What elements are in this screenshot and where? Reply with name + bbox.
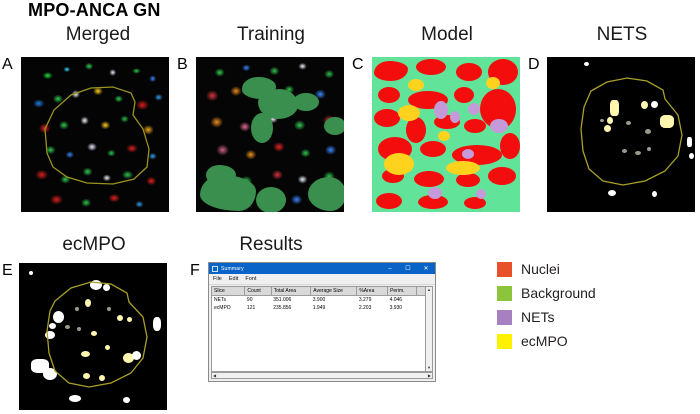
- legend-label-nuclei: Nuclei: [521, 261, 560, 277]
- training-annotation-region: [251, 113, 273, 143]
- window-icon: [212, 266, 218, 272]
- training-annotation-region: [308, 177, 344, 211]
- cell-count: 121: [245, 304, 271, 312]
- roi-outline-nets: [547, 57, 695, 212]
- column-header-total-area[interactable]: Total Area: [271, 287, 311, 296]
- legend-item-background: Background: [497, 285, 596, 301]
- results-table: Slice Count Total Area Average Size %Are…: [212, 287, 432, 312]
- training-annotation-region: [324, 117, 344, 135]
- panel-image-merged: [21, 57, 169, 212]
- legend-label-ecmpo: ecMPO: [521, 333, 568, 349]
- legend-swatch-ecmpo: [497, 334, 512, 349]
- vertical-scrollbar[interactable]: ▲ ▼: [425, 286, 433, 372]
- cell-slice: ecMPO: [212, 304, 245, 312]
- minimize-button[interactable]: –: [381, 263, 399, 274]
- panel-heading-model: Model: [377, 24, 517, 46]
- cell-average-size: 1.949: [311, 304, 357, 312]
- legend-label-nets: NETs: [521, 309, 554, 325]
- model-class-nuclei: [464, 119, 486, 133]
- model-class-ecmpo: [408, 79, 424, 91]
- model-class-nuclei: [488, 167, 516, 185]
- legend-swatch-nets: [497, 310, 512, 325]
- cell-average-size: 3.900: [311, 296, 357, 305]
- panel-letter-a: A: [2, 57, 13, 73]
- panel-heading-nets: NETS: [552, 24, 692, 46]
- panel-image-training: [196, 57, 344, 212]
- roi-outline-ecmpo: [19, 263, 167, 410]
- cell-percent-area: 3.279: [357, 296, 388, 305]
- model-class-ecmpo: [446, 161, 480, 175]
- cell-total-area: 235.856: [271, 304, 311, 312]
- model-class-nuclei: [456, 173, 480, 187]
- maximize-button[interactable]: ☐: [399, 263, 417, 274]
- cell-perim: 3.930: [388, 304, 417, 312]
- model-class-nets: [450, 111, 460, 123]
- panel-letter-c: C: [352, 57, 364, 73]
- column-header-count[interactable]: Count: [245, 287, 271, 296]
- panel-heading-merged: Merged: [28, 24, 168, 46]
- panel-image-nets: [547, 57, 695, 212]
- table-header-row: Slice Count Total Area Average Size %Are…: [212, 287, 432, 296]
- column-header-percent-area[interactable]: %Area: [357, 287, 388, 296]
- model-class-ecmpo: [384, 153, 414, 175]
- summary-titlebar[interactable]: Summary – ☐ ✕: [209, 263, 435, 274]
- results-table-container[interactable]: Slice Count Total Area Average Size %Are…: [211, 286, 433, 372]
- column-header-perim[interactable]: Perim.: [388, 287, 417, 296]
- model-class-nets: [428, 187, 442, 199]
- legend-item-nets: NETs: [497, 309, 596, 325]
- table-row[interactable]: ecMPO 121 235.856 1.949 2.203 3.930: [212, 304, 432, 312]
- legend-swatch-nuclei: [497, 262, 512, 277]
- legend-swatch-background: [497, 286, 512, 301]
- model-class-nuclei: [420, 141, 446, 157]
- legend-item-ecmpo: ecMPO: [497, 333, 596, 349]
- panel-heading-ecmpo: ecMPO: [24, 234, 164, 256]
- table-row[interactable]: NETs 90 351.006 3.900 3.279 4.046: [212, 296, 432, 305]
- model-class-nets: [434, 101, 448, 119]
- menu-item-font[interactable]: Font: [245, 276, 256, 282]
- training-annotation-region: [200, 175, 256, 211]
- model-class-nuclei: [374, 109, 400, 127]
- page-title: MPO-ANCA GN: [28, 0, 161, 21]
- model-class-ecmpo: [486, 77, 500, 89]
- menu-item-edit[interactable]: Edit: [229, 276, 238, 282]
- legend-label-background: Background: [521, 285, 596, 301]
- panel-letter-d: D: [528, 57, 540, 73]
- roi-outline-merged: [21, 57, 169, 212]
- model-class-nuclei: [414, 171, 444, 187]
- model-class-nets: [468, 103, 480, 115]
- model-class-nuclei: [374, 61, 408, 81]
- cell-perim: 4.046: [388, 296, 417, 305]
- model-class-nuclei: [454, 87, 474, 103]
- summary-menubar: File Edit Font: [209, 274, 435, 285]
- column-header-slice[interactable]: Slice: [212, 287, 245, 296]
- legend: Nuclei Background NETs ecMPO: [497, 261, 596, 349]
- menu-item-file[interactable]: File: [213, 276, 222, 282]
- panel-letter-e: E: [2, 263, 13, 279]
- summary-window[interactable]: Summary – ☐ ✕ File Edit Font Slice Count…: [208, 262, 436, 382]
- model-class-nuclei: [378, 87, 400, 103]
- model-class-nets: [490, 119, 508, 133]
- model-class-nuclei: [376, 193, 402, 209]
- legend-item-nuclei: Nuclei: [497, 261, 596, 277]
- model-class-nuclei: [456, 63, 482, 81]
- panel-image-model: [372, 57, 520, 212]
- model-class-ecmpo: [438, 131, 450, 141]
- training-annotation-region: [293, 93, 319, 111]
- panel-letter-f: F: [190, 263, 200, 279]
- panel-letter-b: B: [177, 57, 188, 73]
- scroll-down-icon[interactable]: ▼: [427, 365, 431, 371]
- scroll-left-icon[interactable]: ◀: [212, 374, 217, 378]
- panel-image-ecmpo: [19, 263, 167, 410]
- close-button[interactable]: ✕: [417, 263, 435, 274]
- training-annotation-region: [256, 187, 286, 212]
- scroll-right-icon[interactable]: ▶: [427, 374, 432, 378]
- horizontal-scrollbar[interactable]: ◀ ▶: [211, 372, 433, 379]
- model-class-nuclei: [416, 59, 446, 75]
- cell-percent-area: 2.203: [357, 304, 388, 312]
- cell-total-area: 351.006: [271, 296, 311, 305]
- model-class-nets: [476, 189, 486, 199]
- cell-count: 90: [245, 296, 271, 305]
- scroll-up-icon[interactable]: ▲: [427, 287, 431, 293]
- column-header-average-size[interactable]: Average Size: [311, 287, 357, 296]
- panel-heading-results: Results: [201, 234, 341, 256]
- model-class-nuclei: [464, 197, 486, 209]
- panel-heading-training: Training: [201, 24, 341, 46]
- cell-slice: NETs: [212, 296, 245, 305]
- model-class-ecmpo: [398, 105, 420, 121]
- model-class-nuclei: [500, 133, 520, 159]
- model-class-nets: [462, 149, 474, 159]
- summary-window-title: Summary: [221, 266, 381, 272]
